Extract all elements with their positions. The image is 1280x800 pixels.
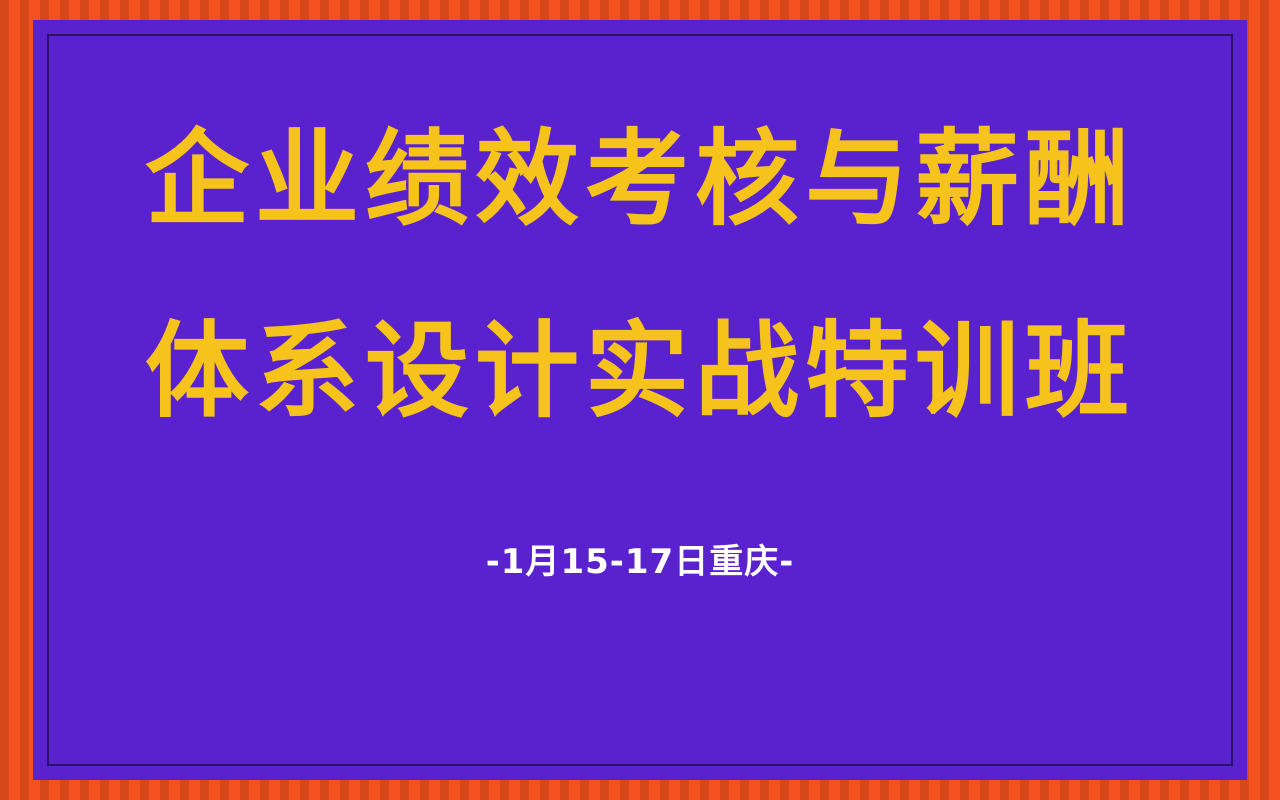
poster-title-line-2: 体系设计实战特训班 xyxy=(145,316,1135,426)
poster-background: 企业绩效考核与薪酬 体系设计实战特训班 -1月15-17日重庆- xyxy=(0,0,1280,800)
poster-subtitle: -1月15-17日重庆- xyxy=(486,534,795,583)
poster-panel: 企业绩效考核与薪酬 体系设计实战特训班 -1月15-17日重庆- xyxy=(33,20,1247,780)
poster-content: 企业绩效考核与薪酬 体系设计实战特训班 -1月15-17日重庆- xyxy=(33,20,1247,780)
poster-title-line-1: 企业绩效考核与薪酬 xyxy=(145,124,1135,234)
